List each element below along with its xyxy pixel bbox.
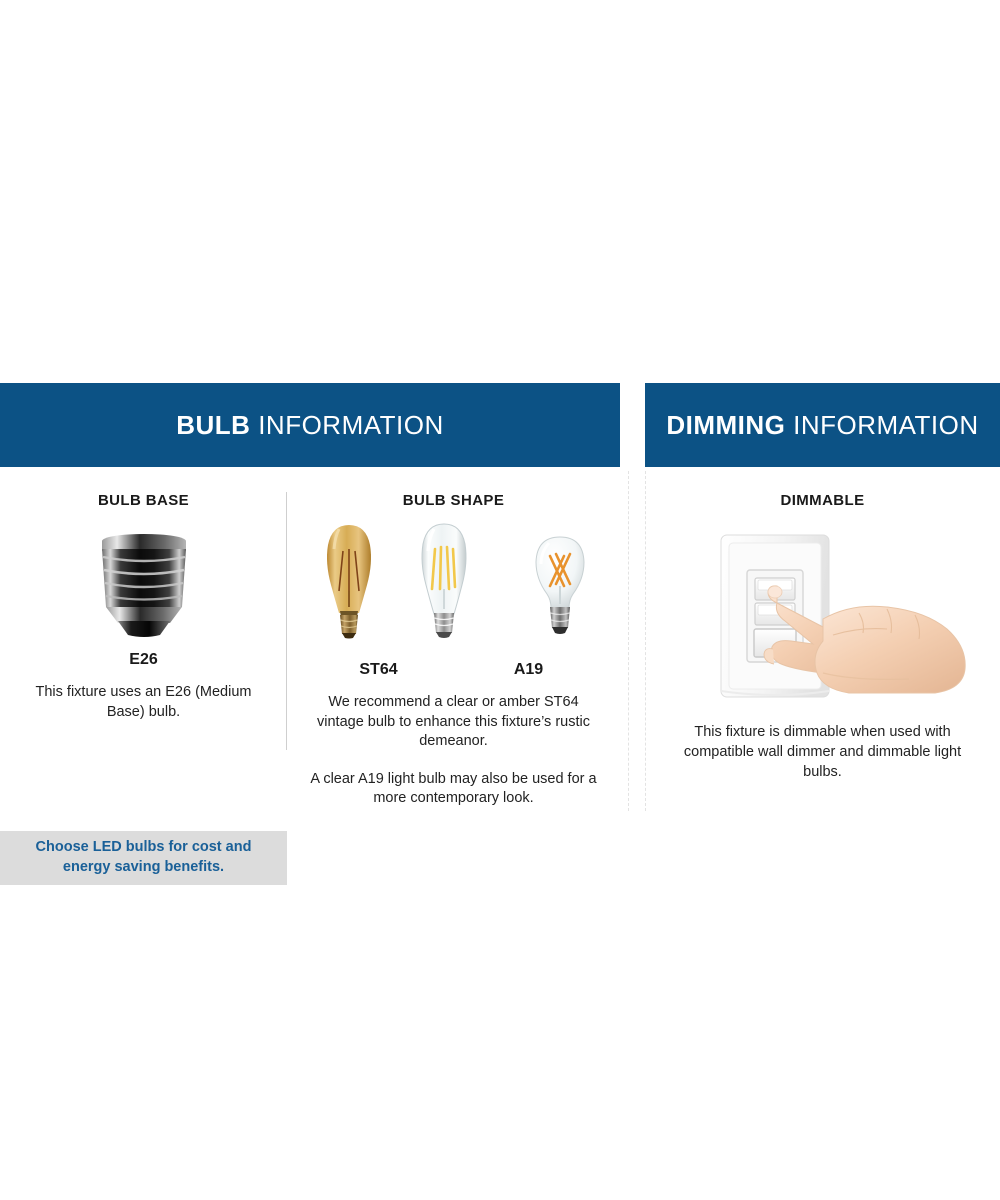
dimming-banner-bold-word: DIMMING	[666, 410, 785, 440]
bulb-shape-paragraph-1: We recommend a clear or amber ST64 vinta…	[287, 693, 620, 752]
dimming-banner-regular-word: INFORMATION	[785, 410, 978, 440]
bulb-shape-image-area	[287, 519, 620, 639]
clear-a19-bulb-icon	[525, 534, 595, 639]
dimmable-title: DIMMABLE	[645, 467, 1000, 509]
led-recommendation-text: Choose LED bulbs for cost and energy sav…	[0, 838, 287, 877]
bulb-dimming-info-block: BULB INFORMATION BULB BASE	[0, 383, 1000, 823]
bulb-shape-column: BULB SHAPE	[287, 467, 620, 823]
panel-dashed-divider-left	[628, 471, 629, 811]
a19-label: A19	[454, 661, 604, 679]
dimming-information-body: DIMMABLE	[645, 467, 1000, 823]
amber-st64-bulb-icon	[313, 521, 385, 639]
banner-regular-word: INFORMATION	[250, 410, 443, 440]
e26-base-image-area	[0, 519, 287, 639]
bulb-information-panel: BULB INFORMATION BULB BASE	[0, 383, 620, 823]
bulb-information-banner: BULB INFORMATION	[0, 383, 620, 467]
dimming-information-banner: DIMMING INFORMATION	[645, 383, 1000, 467]
clear-st64-bulb-icon	[407, 521, 481, 639]
bulb-base-title: BULB BASE	[0, 467, 287, 509]
dimming-information-panel: DIMMING INFORMATION DIMMABLE	[645, 383, 1000, 823]
st64-label: ST64	[304, 661, 454, 679]
e26-label: E26	[0, 651, 287, 669]
bulb-shape-labels: ST64 A19	[287, 649, 620, 679]
dimmer-image-area	[645, 523, 1000, 708]
dimmable-description: This fixture is dimmable when used with …	[645, 722, 1000, 782]
panel-dashed-divider-right	[645, 471, 646, 811]
banner-bold-word: BULB	[176, 410, 250, 440]
e26-screw-base-icon	[84, 531, 204, 639]
bulb-information-banner-text: BULB INFORMATION	[176, 410, 444, 441]
bulb-shape-paragraph-2: A clear A19 light bulb may also be used …	[287, 770, 620, 809]
bulb-shape-title: BULB SHAPE	[287, 467, 620, 509]
dimming-information-banner-text: DIMMING INFORMATION	[666, 410, 978, 441]
bulb-base-description: This fixture uses an E26 (Medium Base) b…	[0, 683, 287, 722]
bulb-information-body: BULB BASE	[0, 467, 620, 823]
bulb-base-column: BULB BASE	[0, 467, 287, 823]
led-recommendation-note: Choose LED bulbs for cost and energy sav…	[0, 831, 287, 885]
hand-pressing-wall-dimmer-icon	[673, 523, 973, 708]
